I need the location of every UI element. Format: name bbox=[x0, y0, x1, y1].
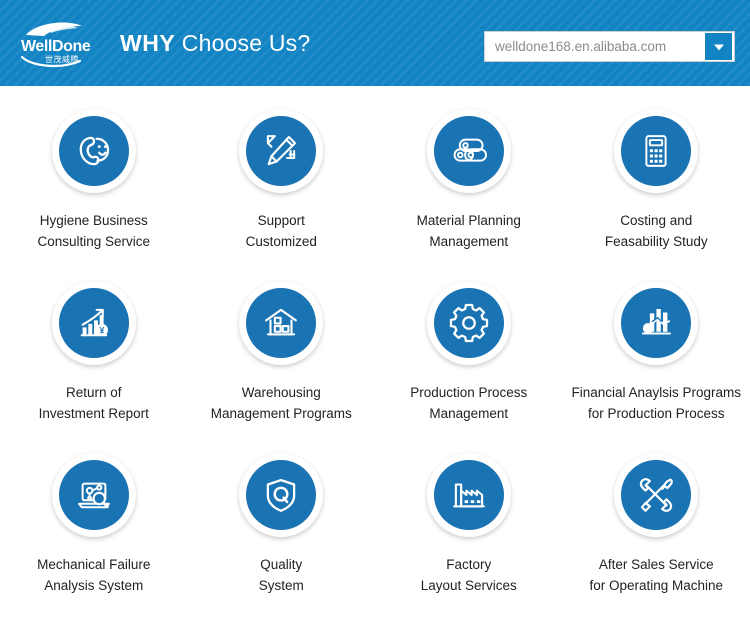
store-url-bar[interactable]: welldone168.en.alibaba.com bbox=[484, 31, 735, 62]
svg-text:WellDone: WellDone bbox=[21, 38, 91, 55]
welldone-logo: WellDone 世茂威腾 bbox=[20, 17, 98, 69]
laptop-gear-search-icon bbox=[59, 460, 129, 530]
wrench-screwdriver-icon bbox=[621, 460, 691, 530]
warehouse-icon bbox=[246, 288, 316, 358]
service-label: After Sales Service for Operating Machin… bbox=[563, 554, 750, 596]
services-grid: Hygiene Business Consulting Service bbox=[0, 86, 750, 616]
service-icon-badge bbox=[239, 109, 323, 193]
service-label: Support Customized bbox=[188, 210, 376, 252]
service-icon-badge bbox=[427, 453, 511, 537]
gear-icon bbox=[434, 288, 504, 358]
service-card[interactable]: Warehousing Management Programs bbox=[188, 272, 376, 444]
service-icon-badge bbox=[614, 453, 698, 537]
service-label: Factory Layout Services bbox=[375, 554, 563, 596]
factory-icon bbox=[434, 460, 504, 530]
page-title-emphasis: WHY bbox=[120, 30, 175, 56]
service-card[interactable]: Quality System bbox=[188, 444, 376, 616]
page-title: WHY Choose Us? bbox=[120, 32, 310, 55]
service-label: Material Planning Management bbox=[375, 210, 563, 252]
service-label: Warehousing Management Programs bbox=[188, 382, 376, 424]
service-icon-badge bbox=[427, 281, 511, 365]
service-label: Production Process Management bbox=[375, 382, 563, 424]
service-card[interactable]: Factory Layout Services bbox=[375, 444, 563, 616]
service-icon-badge: ¥ bbox=[52, 281, 136, 365]
service-label: Quality System bbox=[188, 554, 376, 596]
service-icon-badge bbox=[52, 109, 136, 193]
shield-q-icon bbox=[246, 460, 316, 530]
service-card[interactable]: Material Planning Management bbox=[375, 100, 563, 272]
service-icon-badge bbox=[427, 109, 511, 193]
service-card[interactable]: After Sales Service for Operating Machin… bbox=[563, 444, 750, 616]
service-icon-badge bbox=[239, 453, 323, 537]
chevron-down-icon[interactable] bbox=[705, 33, 732, 60]
service-icon-badge bbox=[52, 453, 136, 537]
page-header: WellDone 世茂威腾 WHY Choose Us? welldone168… bbox=[0, 0, 750, 86]
service-card[interactable]: Mechanical Failure Analysis System bbox=[0, 444, 188, 616]
service-icon-badge bbox=[614, 109, 698, 193]
service-card[interactable]: Production Process Management bbox=[375, 272, 563, 444]
page-title-rest: Choose Us? bbox=[175, 30, 310, 56]
service-card[interactable]: ¥ Return of Investment Report bbox=[0, 272, 188, 444]
material-rolls-icon bbox=[434, 116, 504, 186]
service-icon-badge bbox=[239, 281, 323, 365]
store-url-input[interactable]: welldone168.en.alibaba.com bbox=[495, 39, 705, 54]
phone-smile-icon bbox=[59, 116, 129, 186]
financial-analysis-icon bbox=[621, 288, 691, 358]
pencil-ruler-icon bbox=[246, 116, 316, 186]
service-label: Return of Investment Report bbox=[0, 382, 188, 424]
calculator-icon bbox=[621, 116, 691, 186]
service-label: Hygiene Business Consulting Service bbox=[0, 210, 188, 252]
growth-chart-coin-icon: ¥ bbox=[59, 288, 129, 358]
service-label: Mechanical Failure Analysis System bbox=[0, 554, 188, 596]
service-label: Financial Anaylsis Programs for Producti… bbox=[563, 382, 750, 424]
service-card[interactable]: Hygiene Business Consulting Service bbox=[0, 100, 188, 272]
service-card[interactable]: Financial Anaylsis Programs for Producti… bbox=[563, 272, 750, 444]
service-card[interactable]: Costing and Feasability Study bbox=[563, 100, 750, 272]
service-card[interactable]: Support Customized bbox=[188, 100, 376, 272]
service-icon-badge bbox=[614, 281, 698, 365]
svg-text:¥: ¥ bbox=[99, 326, 104, 336]
service-label: Costing and Feasability Study bbox=[563, 210, 750, 252]
